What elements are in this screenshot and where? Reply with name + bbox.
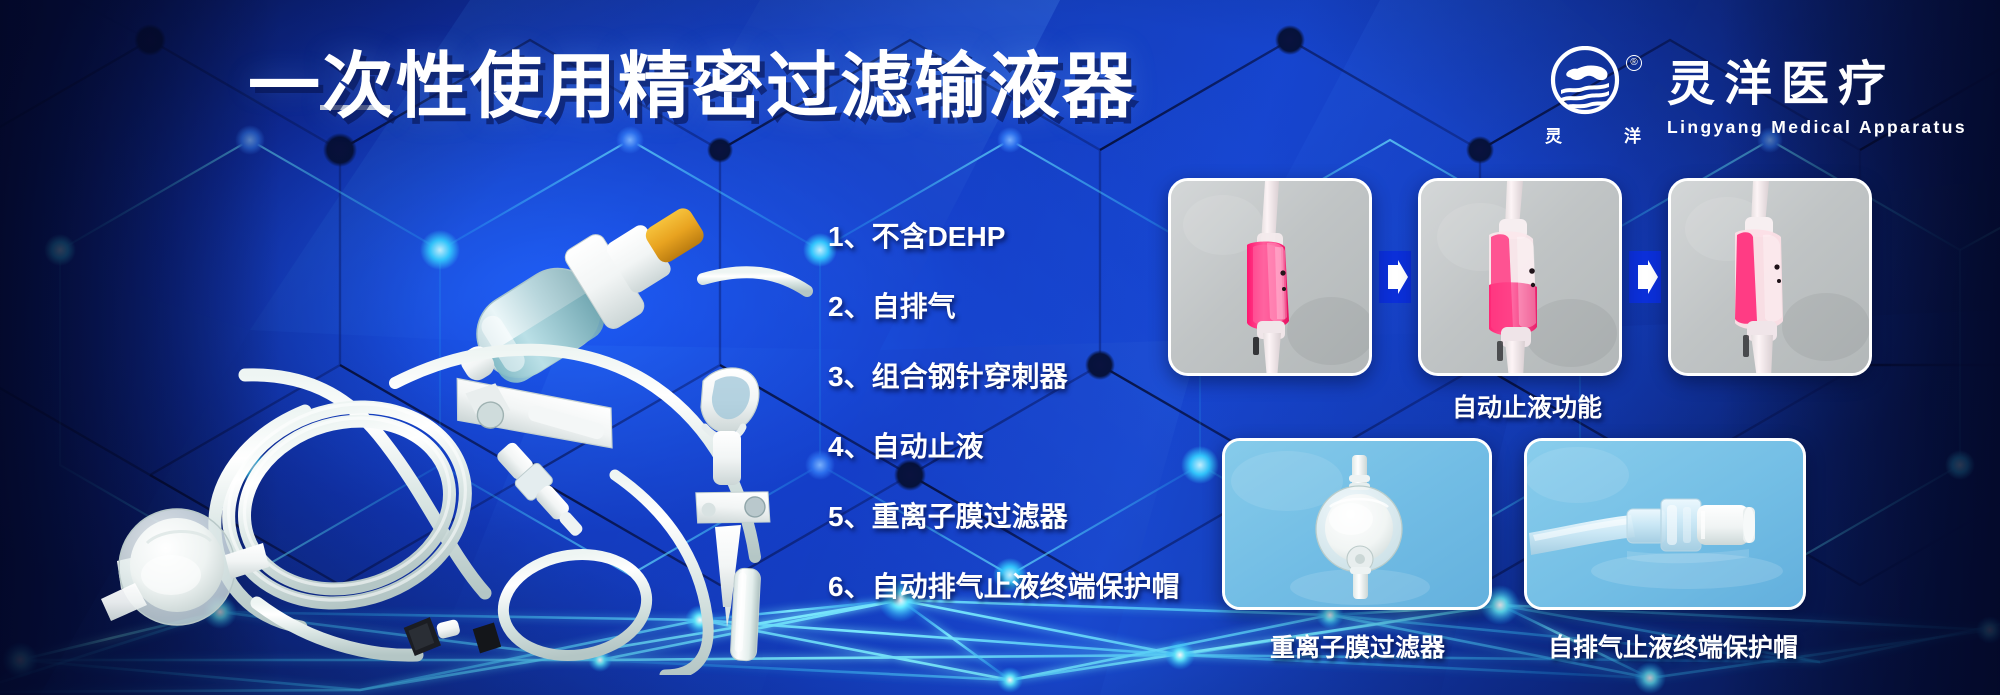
list-item: 1、不含DEHP — [828, 222, 1188, 252]
list-item: 2、自排气 — [828, 292, 1188, 322]
iv-infusion-set-photo — [55, 175, 815, 675]
arrow-right-icon — [1372, 251, 1418, 303]
logo-mark-char-right: 洋 — [1624, 122, 1641, 147]
drip-chamber-part — [439, 184, 722, 408]
terminal-cap-panel-caption: 自排气止液终端保护帽 — [1548, 628, 1798, 664]
autostop-caption: 自动止液功能 — [1452, 388, 1602, 424]
roller-clamp-part — [446, 365, 622, 463]
luer-connector-part — [492, 438, 592, 544]
brand-name-en: Lingyang Medical Apparatus — [1667, 117, 1967, 138]
list-item: 6、自动排气止液终端保护帽 — [828, 572, 1188, 602]
feature-list: 1、不含DEHP 2、自排气 3、组合钢针穿刺器 4、自动止液 5、重离子膜过滤… — [828, 222, 1188, 602]
filter-panel-caption: 重离子膜过滤器 — [1270, 628, 1445, 664]
page-title: 一次性使用精密过滤输液器 — [248, 44, 1038, 130]
lingyang-wave-emblem-icon: ® 灵 洋 — [1545, 46, 1641, 150]
chamber-draining-photo — [1418, 178, 1622, 376]
terminal-cap-part — [730, 568, 761, 661]
arrow-right-icon — [1622, 251, 1668, 303]
self-venting-terminal-cap-photo — [1524, 438, 1806, 610]
chamber-full-photo — [1168, 178, 1372, 376]
registered-mark-icon: ® — [1626, 55, 1642, 71]
autostop-sequence-row — [1168, 178, 1872, 376]
chamber-stopped-photo — [1668, 178, 1872, 376]
brand-name-cn: 灵洋医疗 — [1667, 58, 1967, 112]
flow-clip-part — [472, 622, 501, 654]
logo-mark-char-left: 灵 — [1545, 122, 1562, 147]
list-item: 3、组合钢针穿刺器 — [828, 362, 1188, 392]
list-item: 4、自动止液 — [828, 432, 1188, 462]
list-item: 5、重离子膜过滤器 — [828, 502, 1188, 532]
banner-canvas: 一次性使用精密过滤输液器 ® 灵 洋 灵洋医疗 L — [0, 0, 2000, 695]
brand-logo: ® 灵 洋 灵洋医疗 Lingyang Medical Apparatus — [1545, 46, 1967, 150]
heavy-ion-membrane-filter-photo — [1222, 438, 1492, 610]
